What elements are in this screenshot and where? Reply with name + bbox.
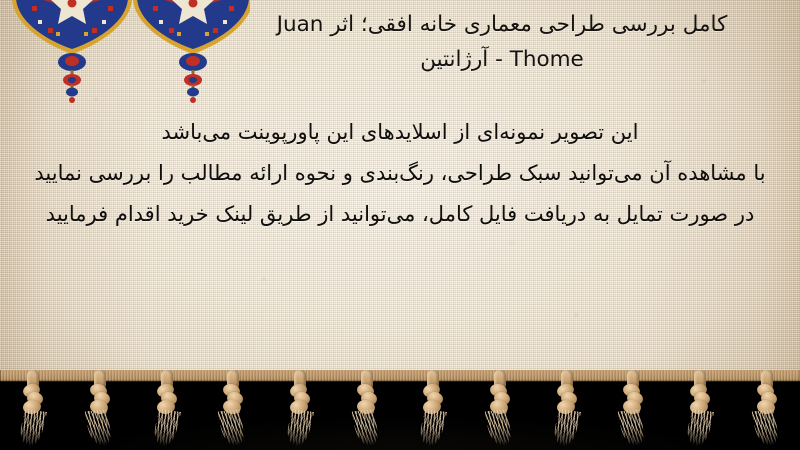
slide-title-line-2: Thome - آرژانتین <box>222 42 782 77</box>
fringe-tassel <box>687 370 713 448</box>
body-line-3: در صورت تمایل به دریافت فایل کامل، می‌تو… <box>0 194 800 235</box>
fringe-tassel <box>754 370 780 448</box>
fringe-tassel <box>287 370 313 448</box>
fringe-tassel <box>20 370 46 448</box>
slide-body-text: این تصویر نمونه‌ای از اسلایدهای این پاور… <box>0 112 800 235</box>
body-line-2: با مشاهده آن می‌توانید سبک طراحی، رنگ‌بن… <box>0 153 800 194</box>
fringe-tassel <box>420 370 446 448</box>
fringe-tassel <box>554 370 580 448</box>
slide-title-line-1: کامل بررسی طراحی معماری خانه افقی؛ اثر J… <box>222 7 782 42</box>
fringe-tassel <box>620 370 646 448</box>
fringe-tassel <box>87 370 113 448</box>
fringe-tassel <box>354 370 380 448</box>
carpet-edge-binding <box>0 370 800 381</box>
carpet-fringe-band <box>0 370 800 450</box>
slide-canvas: کامل بررسی طراحی معماری خانه افقی؛ اثر J… <box>0 0 800 450</box>
slide-title: کامل بررسی طراحی معماری خانه افقی؛ اثر J… <box>222 7 782 77</box>
fringe-tassel <box>487 370 513 448</box>
fringe-tassel <box>154 370 180 448</box>
fringe-tassel <box>220 370 246 448</box>
body-line-1: این تصویر نمونه‌ای از اسلایدهای این پاور… <box>0 112 800 153</box>
